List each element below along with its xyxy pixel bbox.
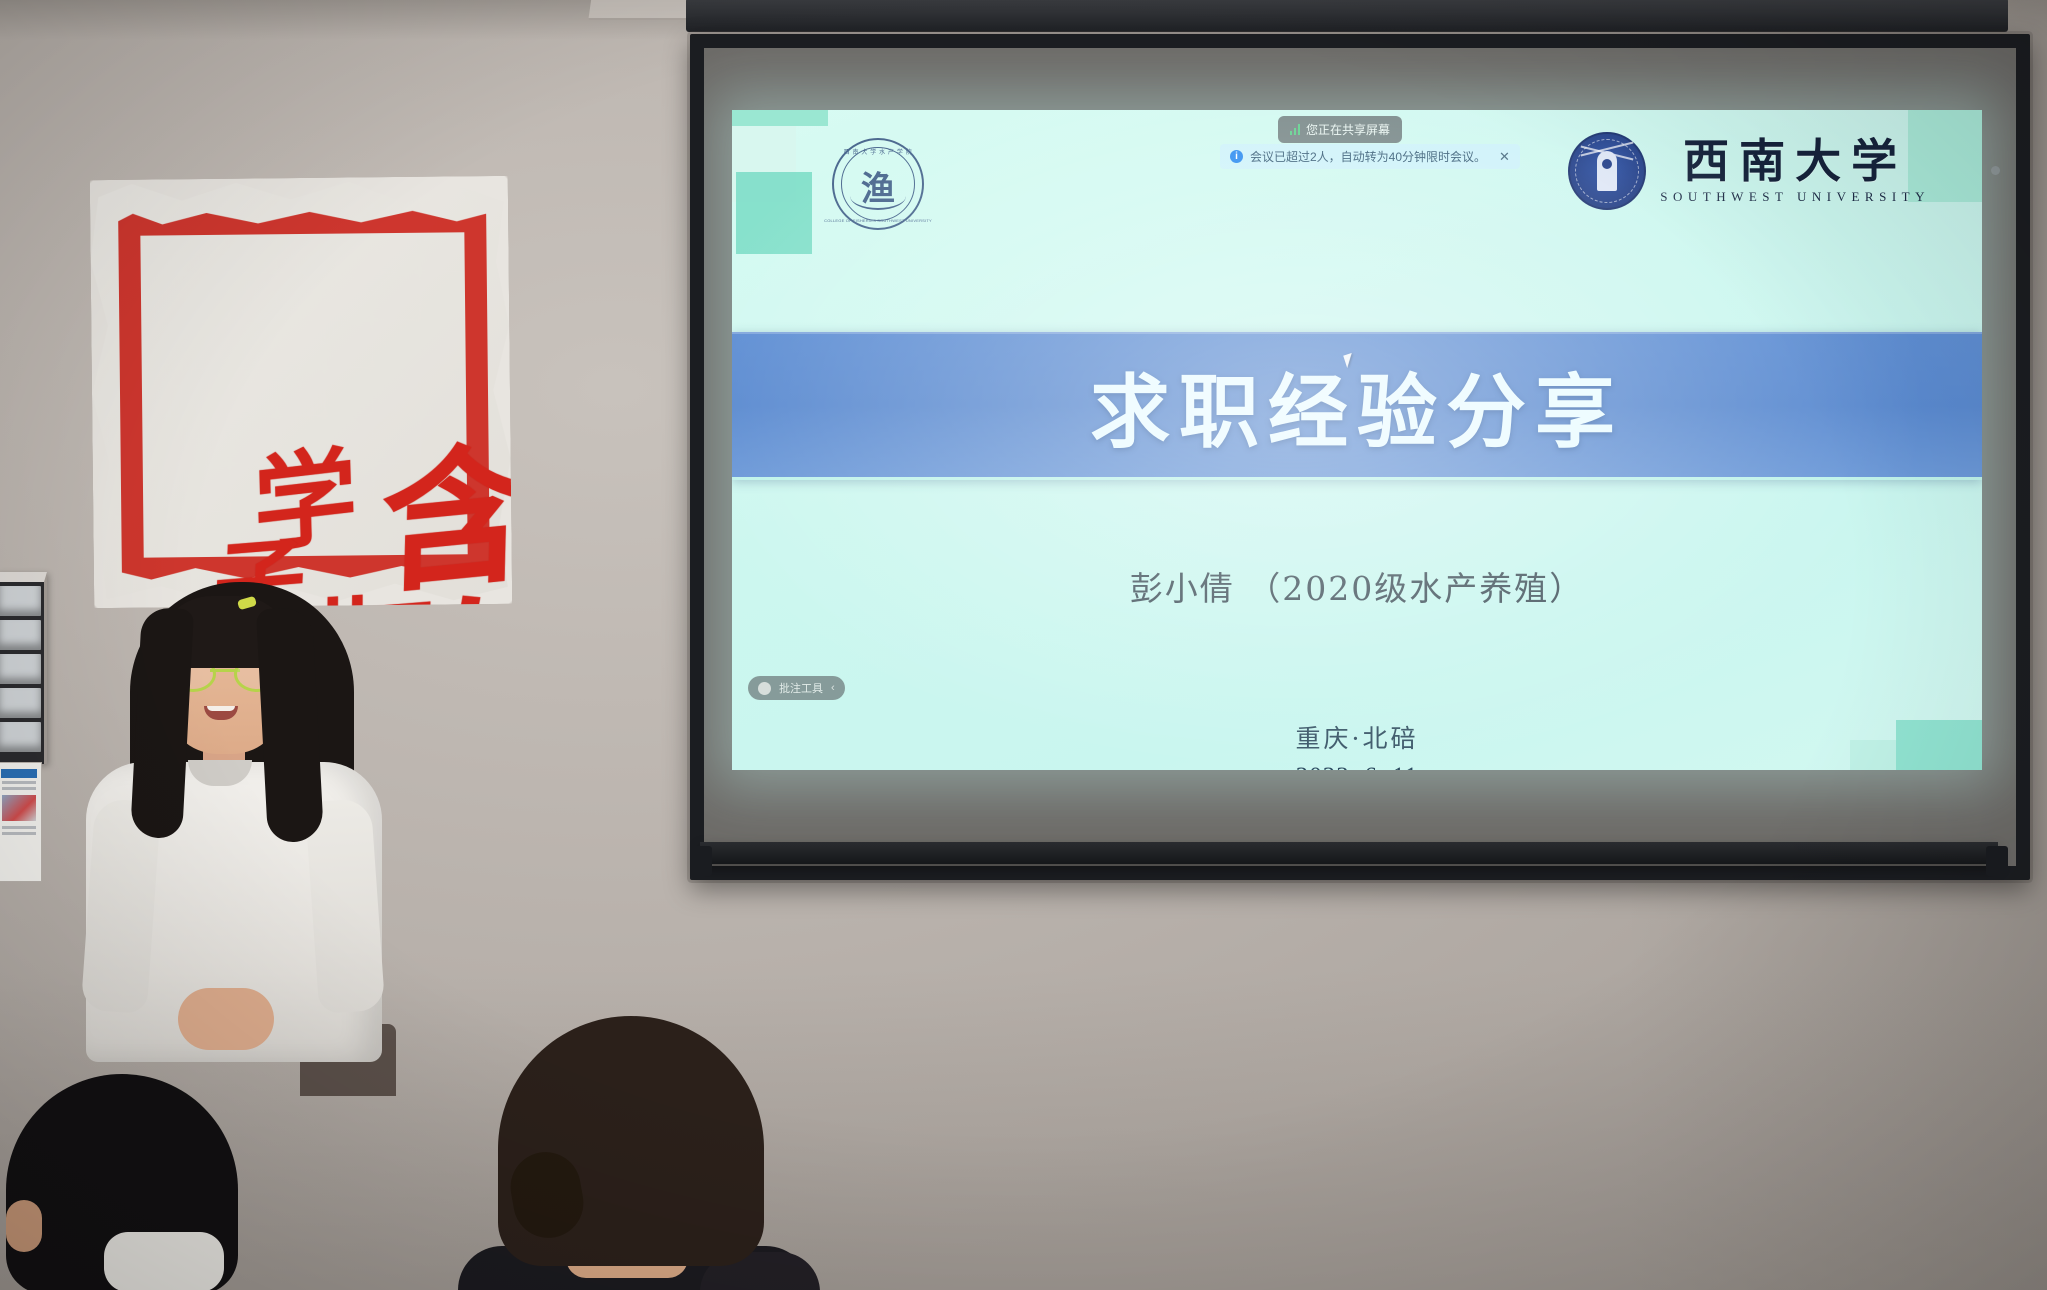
seal-bottom-text: COLLEGE OF FISHERIES SOUTHWEST UNIVERSIT…	[824, 218, 932, 223]
rack-slot	[0, 722, 41, 752]
poster-line	[2, 787, 36, 790]
meeting-notice-banner: i 会议已超过2人，自动转为40分钟限时会议。 ✕	[1220, 144, 1520, 169]
rack-slot	[0, 654, 41, 684]
screen-surface: 西 南 大 学 水 产 学 院 渔 COLLEGE OF FISHERIES S…	[704, 48, 2016, 866]
slide-presenter: 彭小倩 （2020级水产养殖）	[732, 562, 1982, 610]
rack-slot	[0, 586, 41, 616]
audience-left-ear	[6, 1200, 42, 1252]
slide-deco-square	[732, 110, 828, 126]
slide-title-band: 求职经验分享	[732, 332, 1982, 480]
slide-venue-block: 重庆·北碚 2023. 6. 11	[732, 720, 1982, 770]
meeting-notice-text: 会议已超过2人，自动转为40分钟限时会议。	[1250, 148, 1486, 165]
poster-line	[2, 826, 36, 829]
university-name-block: 西南大学 SOUTHWEST UNIVERSITY	[1660, 138, 1930, 205]
seal-tower	[1597, 151, 1617, 191]
projected-slide: 西 南 大 学 水 产 学 院 渔 COLLEGE OF FISHERIES S…	[732, 110, 1982, 770]
slide-venue: 重庆·北碚	[732, 720, 1982, 758]
screen-bottom-cap-right	[1986, 846, 2008, 876]
screen-bottom-cap-left	[690, 846, 712, 876]
screen-bottom-bar	[700, 842, 1998, 864]
slide-deco-square	[736, 172, 812, 254]
screen-corner-dot	[1991, 166, 2000, 175]
annotation-toolbar[interactable]: 批注工具 ‹	[748, 676, 845, 700]
projector-screen: 西 南 大 学 水 产 学 院 渔 COLLEGE OF FISHERIES S…	[690, 34, 2030, 880]
wall-leaflet-rack	[0, 572, 47, 764]
share-indicator-label: 您正在共享屏幕	[1306, 121, 1390, 138]
university-branding: 西南大学 SOUTHWEST UNIVERSITY	[1568, 132, 1930, 210]
rack-slot	[0, 620, 41, 650]
southwest-university-seal-icon	[1568, 132, 1646, 210]
poster-line	[2, 781, 36, 784]
band-bottom-line	[732, 477, 1982, 480]
poster-header-bar	[1, 769, 37, 778]
university-name-cn: 西南大学	[1683, 138, 1907, 184]
audience-left-face	[104, 1232, 224, 1290]
wall-small-poster	[0, 762, 42, 882]
slide-date: 2023. 6. 11	[732, 758, 1982, 771]
speaker-shirt-print	[196, 846, 258, 876]
signal-bars-icon	[1290, 124, 1300, 135]
speaker-hands	[178, 988, 274, 1050]
screen-share-indicator: 您正在共享屏幕	[1278, 116, 1402, 143]
poster-line	[2, 832, 36, 835]
seal-top-text: 西 南 大 学 水 产 学 院	[844, 147, 913, 156]
screen-roller-housing	[686, 0, 2008, 32]
university-name-en: SOUTHWEST UNIVERSITY	[1660, 189, 1930, 205]
close-icon[interactable]: ✕	[1499, 149, 1510, 165]
slide-title: 求职经验分享	[732, 332, 1982, 480]
calligraphy-poster: 学 子 讲 堂 含 弘	[90, 176, 512, 608]
fisheries-college-seal-icon: 西 南 大 学 水 产 学 院 渔 COLLEGE OF FISHERIES S…	[832, 138, 924, 230]
chevron-left-icon[interactable]: ‹	[831, 682, 835, 694]
poster-image-block	[2, 795, 36, 821]
pen-icon[interactable]	[758, 682, 771, 695]
annotation-toolbar-label: 批注工具	[779, 680, 823, 696]
info-icon: i	[1230, 150, 1243, 163]
rack-slot	[0, 688, 41, 718]
classroom-presentation-scene: LED 学 子 讲 堂 含 弘	[0, 0, 2047, 1290]
